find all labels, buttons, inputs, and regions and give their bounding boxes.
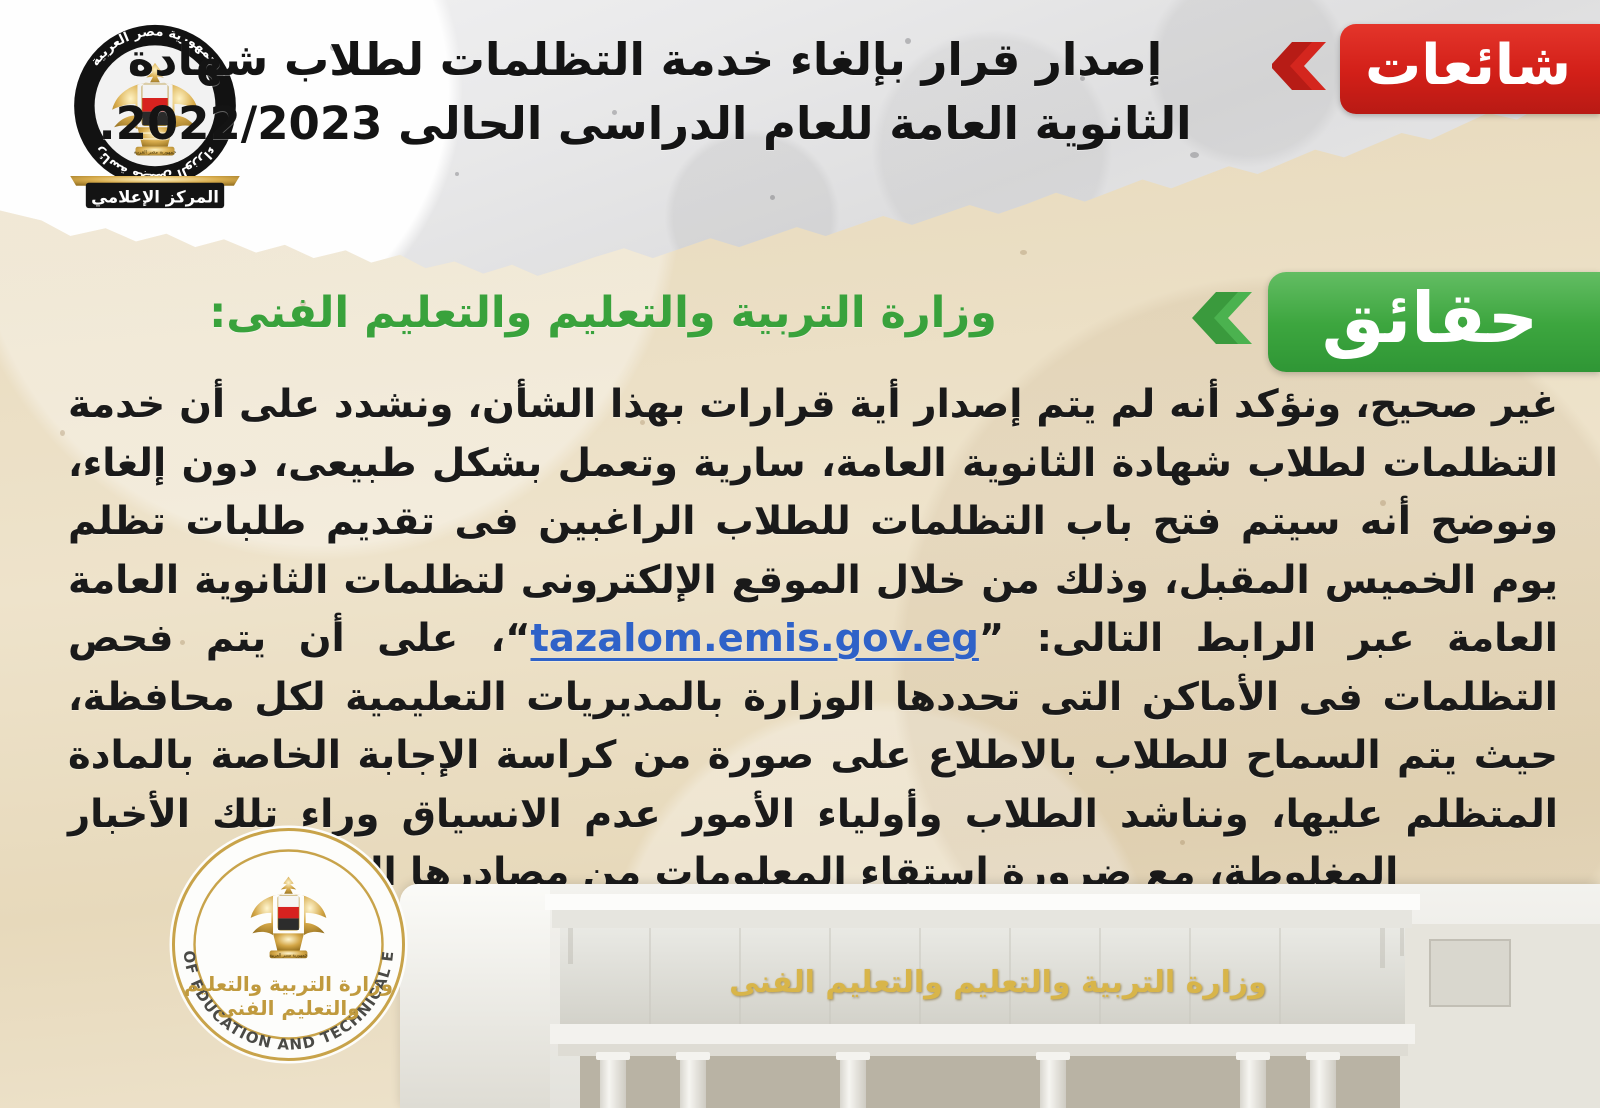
rumor-title: إصدار قرار بإلغاء خدمة التظلمات لطلاب شه… bbox=[0, 24, 1258, 156]
facts-header-row: حقائق وزارة التربية والتعليم والتعليم ال… bbox=[0, 272, 1600, 368]
infographic-poster: جمهورية مصر العربية رئاسة مجلس الوزراء ج… bbox=[0, 0, 1600, 1108]
rumor-badge-label: شائعات bbox=[1365, 38, 1571, 94]
svg-text:المركز الإعلامي: المركز الإعلامي bbox=[91, 187, 219, 207]
facts-badge-label: حقائق bbox=[1322, 283, 1539, 353]
quote-close: “ bbox=[505, 616, 530, 661]
double-chevron-left-icon bbox=[1258, 24, 1340, 108]
rumor-badge: شائعات bbox=[1340, 24, 1600, 114]
svg-text:جمهورية مصر العربية: جمهورية مصر العربية bbox=[270, 954, 308, 959]
tazalom-link[interactable]: tazalom.emis.gov.eg bbox=[531, 610, 979, 669]
quote-open: ” bbox=[979, 616, 1004, 661]
svg-text:والتعليم الفنى: والتعليم الفنى bbox=[217, 996, 359, 1020]
facts-badge: حقائق bbox=[1268, 272, 1600, 372]
svg-text:وزارة التربية والتعليم: وزارة التربية والتعليم bbox=[184, 972, 393, 996]
ministry-building-photo: وزارة التربية والتعليم والتعليم الفنى bbox=[400, 884, 1600, 1108]
fact-source-label: وزارة التربية والتعليم والتعليم الفنى: bbox=[0, 272, 1176, 340]
ministry-of-education-seal: MINISTRY OF EDUCATION AND TECHNICAL EDUC… bbox=[167, 823, 410, 1066]
rumor-header-row: شائعات إصدار قرار بإلغاء خدمة التظلمات ل… bbox=[0, 24, 1600, 184]
double-chevron-left-icon-green bbox=[1176, 272, 1268, 374]
